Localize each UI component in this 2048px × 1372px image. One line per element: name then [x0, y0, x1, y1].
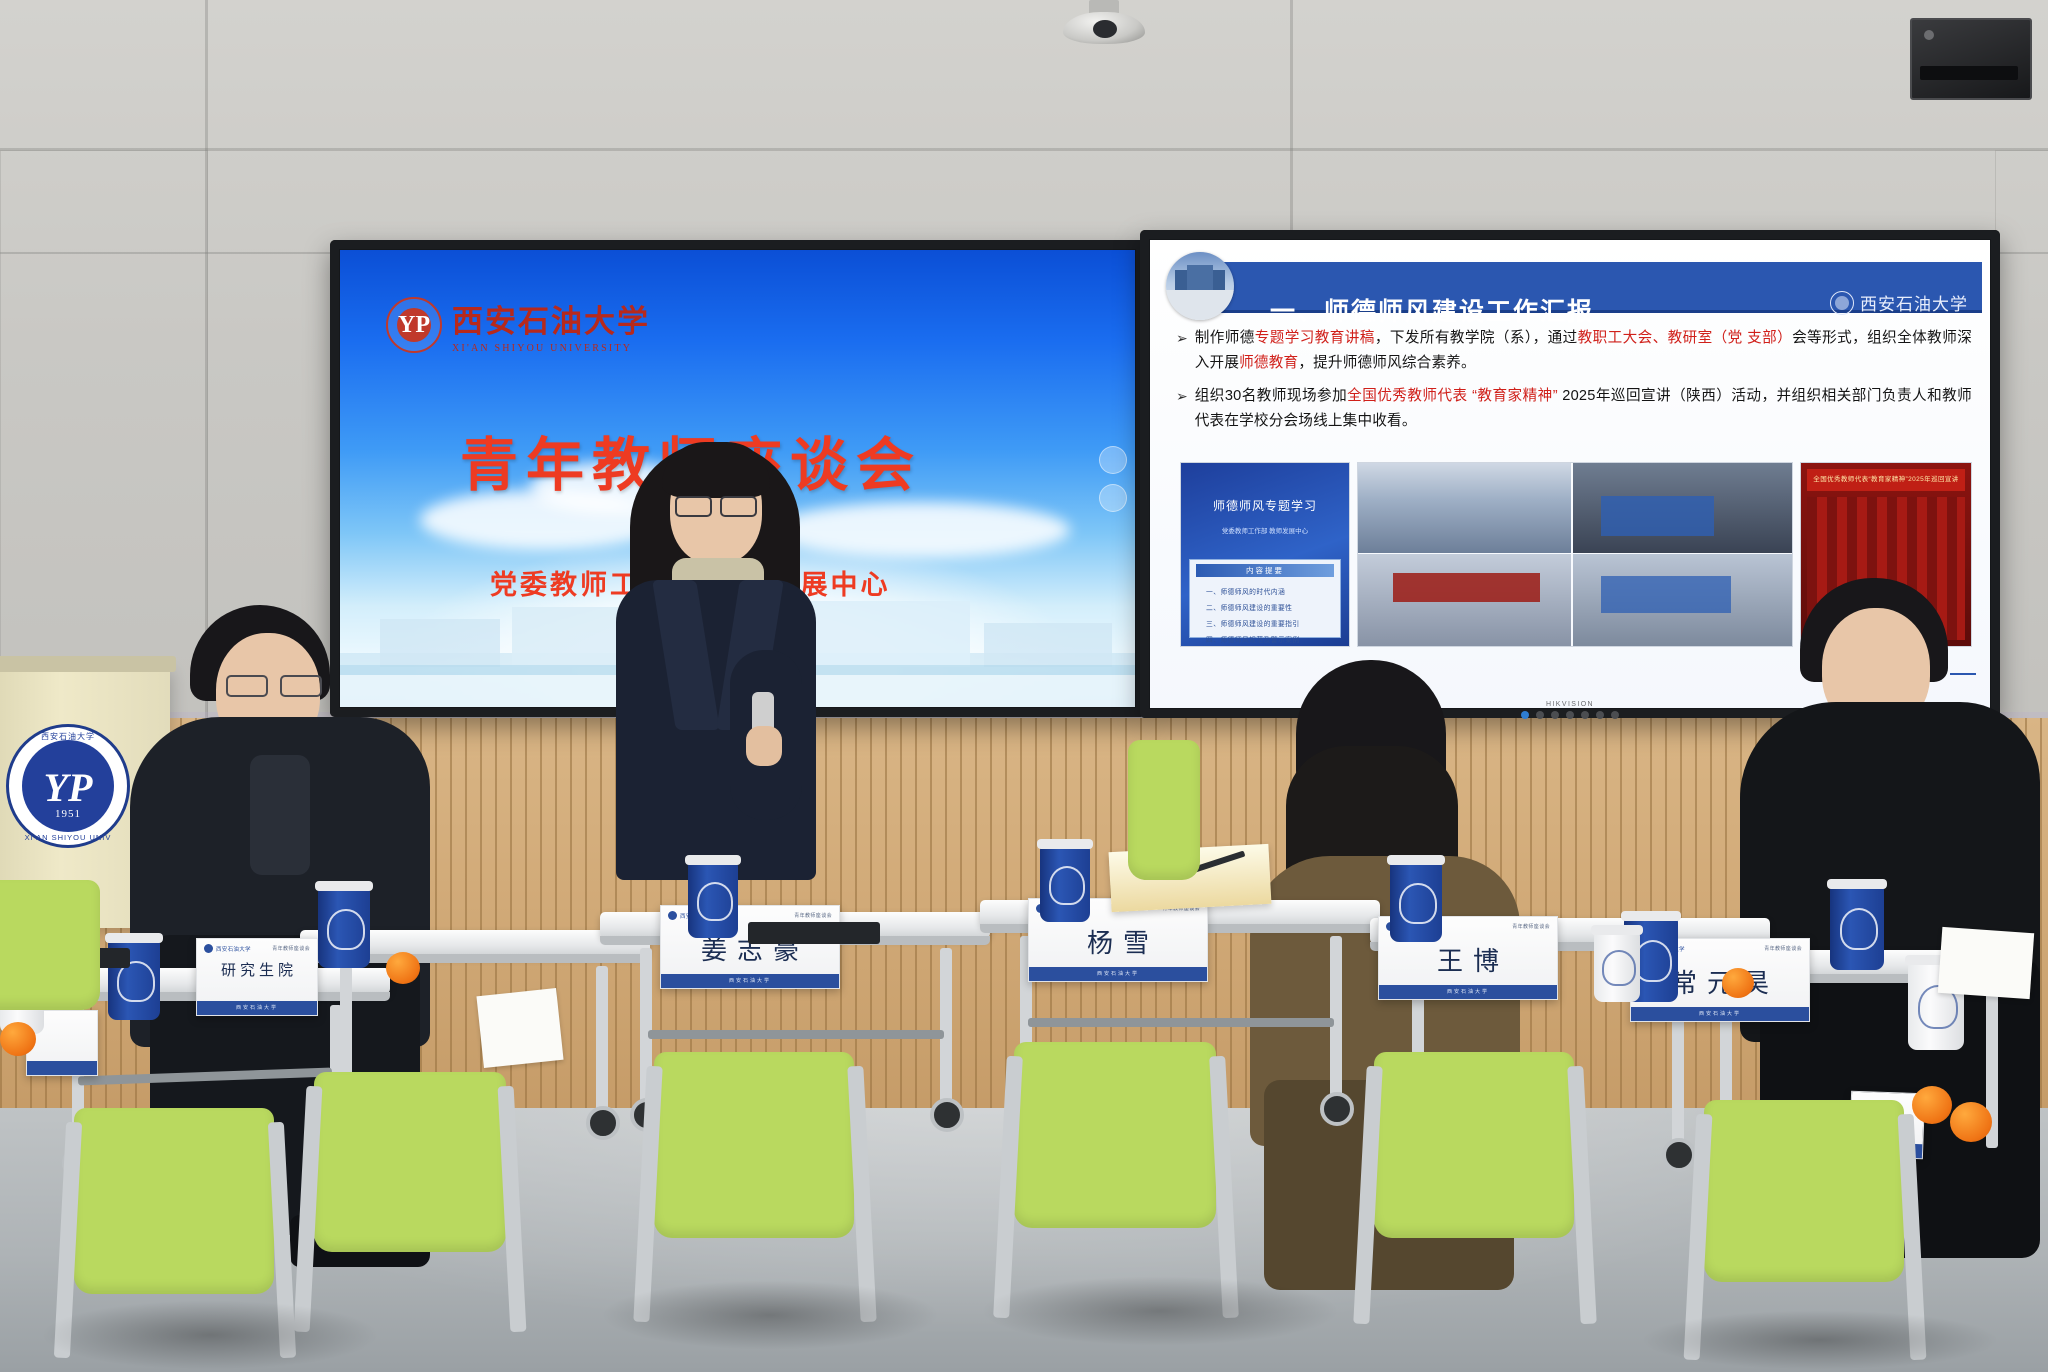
- university-name-cn: 西安石油大学: [452, 296, 650, 341]
- slide-header: 一、师德师风建设工作汇报 西安石油大学: [1150, 262, 1990, 310]
- nameplate-footer: 西安石油大学: [197, 1001, 317, 1015]
- desk-caster: [930, 1098, 964, 1132]
- shadow: [980, 1276, 1340, 1346]
- nameplate: 西安石油大学 青年教师座谈会 姜志豪 西安石油大学: [660, 905, 840, 989]
- slide-bullet-list: ➢ 制作师德专题学习教育讲稿，下发所有教学院（系），通过教职工大会、教研室（党 …: [1176, 326, 1972, 442]
- nameplate-footer: 西安石油大学: [1029, 967, 1207, 981]
- desk-crossbar: [648, 1030, 944, 1039]
- shadow: [40, 1300, 380, 1370]
- display-buttons[interactable]: [1521, 711, 1619, 719]
- nameplate-name: 研究生院: [197, 959, 317, 980]
- shadow: [600, 1280, 940, 1350]
- paper-cup: [1594, 932, 1640, 1002]
- document-paper: [1938, 927, 2034, 999]
- highlighted-text: 教职工大会、教研室（党 支部）: [1578, 330, 1793, 346]
- plain-text: 制作师德: [1195, 330, 1255, 346]
- university-logo: YP 西安石油大学 XI'AN SHIYOU UNIVERSITY: [386, 296, 650, 354]
- ppt-cover-thumbnail: 师德师风专题学习 党委教师工作部 教师发展中心 内容提要 一、师德师风的时代内涵…: [1180, 462, 1350, 647]
- thumb-title: 师德师风专题学习: [1181, 497, 1349, 514]
- chair[interactable]: [1360, 1052, 1590, 1324]
- paper-cup: [1830, 886, 1884, 970]
- nameplate-dept: 青年教师座谈会: [272, 945, 310, 952]
- wall-equipment-box: [1910, 18, 2032, 100]
- wall-seam: [0, 148, 2048, 151]
- highlighted-text: 全国优秀教师代表 “教育家精神”: [1347, 388, 1562, 404]
- highlighted-text: 师德教育: [1239, 355, 1298, 371]
- thumb-subtitle: 党委教师工作部 教师发展中心: [1181, 525, 1349, 535]
- bullet-marker-icon: ➢: [1176, 384, 1188, 434]
- auditorium-banner-text: 全国优秀教师代表“教育家精神”2025年巡回宣讲（陕西）: [1807, 469, 1965, 491]
- seal-mark: YP: [397, 308, 431, 342]
- paper-cup: [688, 862, 738, 938]
- campus-photo-icon: [1166, 252, 1234, 320]
- shadow: [1640, 1310, 2000, 1370]
- nameplate-dept: 青年教师座谈会: [1512, 923, 1550, 930]
- display-brand-label: HIKVISION: [1521, 701, 1619, 708]
- plain-text: ，提升师德师风综合素养。: [1298, 355, 1476, 371]
- chair[interactable]: [300, 1072, 520, 1332]
- thumb-section-bar: 内容提要: [1196, 564, 1334, 577]
- university-emblem-icon: 西安石油大学 YP 1951 XI'AN SHIYOU UNIV: [6, 724, 130, 848]
- glasses-icon: [226, 675, 322, 693]
- thumb-list-item: 四、师德师风规范及警示案例: [1206, 634, 1300, 644]
- thumb-list-item: 一、师德师风的时代内涵: [1206, 586, 1285, 596]
- desk-leg: [596, 966, 608, 1116]
- document-paper: [476, 988, 563, 1068]
- emblem-mark: YP: [22, 764, 114, 811]
- nameplate-name: 王博: [1379, 941, 1557, 978]
- display-brand-bar: HIKVISION: [1521, 701, 1619, 719]
- nameplate-footer: 西安石油大学: [1631, 1007, 1809, 1021]
- bullet-text: 组织30名教师现场参加全国优秀教师代表 “教育家精神” 2025年巡回宣讲（陕西…: [1195, 384, 1972, 434]
- orange-fruit: [1950, 1102, 1992, 1142]
- bullet-marker-icon: ➢: [1176, 326, 1188, 376]
- emblem-year: 1951: [22, 808, 114, 820]
- university-seal-icon: YP: [386, 297, 442, 353]
- emblem-text-en: XI'AN SHIYOU UNIV: [9, 833, 127, 842]
- meeting-photo-collage: [1357, 462, 1793, 647]
- orange-fruit: [1722, 968, 1754, 998]
- thumb-list-item: 三、师德师风建设的重要指引: [1206, 618, 1300, 628]
- slide-header-logo-text: 西安石油大学: [1860, 290, 1968, 315]
- bullet-item: ➢ 制作师德专题学习教育讲稿，下发所有教学院（系），通过教职工大会、教研室（党 …: [1176, 326, 1972, 376]
- wall-seam: [1290, 0, 1293, 250]
- presenter-standing: [600, 430, 830, 880]
- orange-fruit: [386, 952, 420, 984]
- hand: [746, 726, 782, 766]
- paper-cup: [1040, 846, 1090, 922]
- chair[interactable]: [1128, 740, 1208, 890]
- plain-text: ，下发所有教学院（系），通过: [1375, 330, 1578, 346]
- slide-header-logo: 西安石油大学: [1830, 290, 1968, 315]
- paper-cup: [318, 888, 370, 968]
- ceiling-camera-icon: [1063, 0, 1145, 44]
- desk-crossbar: [1028, 1018, 1334, 1027]
- seal-icon: [1830, 291, 1854, 315]
- nameplate-footer: 西安石油大学: [1379, 985, 1557, 999]
- desk-caster: [1320, 1092, 1354, 1126]
- glasses-icon: [675, 496, 757, 513]
- thumb-list-item: 二、师德师风建设的重要性: [1206, 602, 1292, 612]
- nameplate-dept: 青年教师座谈会: [794, 912, 832, 919]
- desk-leg: [940, 948, 952, 1108]
- desk-caster: [586, 1106, 620, 1140]
- nameplate: 西安石油大学 青年教师座谈会 研究生院 西安石油大学: [196, 938, 318, 1016]
- bullet-item: ➢ 组织30名教师现场参加全国优秀教师代表 “教育家精神” 2025年巡回宣讲（…: [1176, 384, 1972, 434]
- nameplate-dept: 青年教师座谈会: [1764, 945, 1802, 952]
- nameplate-name: 杨雪: [1029, 923, 1207, 960]
- conference-room-photo: YP 西安石油大学 XI'AN SHIYOU UNIVERSITY 青年教师座谈…: [0, 0, 2048, 1372]
- nameplate-footer: 西安石油大学: [661, 974, 839, 988]
- chair[interactable]: [0, 880, 120, 1050]
- paper-cup: [1390, 862, 1442, 942]
- bullet-text: 制作师德专题学习教育讲稿，下发所有教学院（系），通过教职工大会、教研室（党 支部…: [1195, 326, 1972, 376]
- screen-control-icon[interactable]: [1099, 484, 1127, 512]
- plain-text: 组织30名教师现场参加: [1195, 388, 1347, 404]
- highlighted-text: 专题学习教育讲稿: [1255, 330, 1375, 346]
- slide-header-title: 一、师德师风建设工作汇报: [1270, 292, 1594, 328]
- nameplate-logo-text: 西安石油大学: [216, 945, 251, 953]
- screen-control-icon[interactable]: [1099, 446, 1127, 474]
- university-name-en: XI'AN SHIYOU UNIVERSITY: [452, 343, 650, 354]
- laptop: [748, 922, 880, 944]
